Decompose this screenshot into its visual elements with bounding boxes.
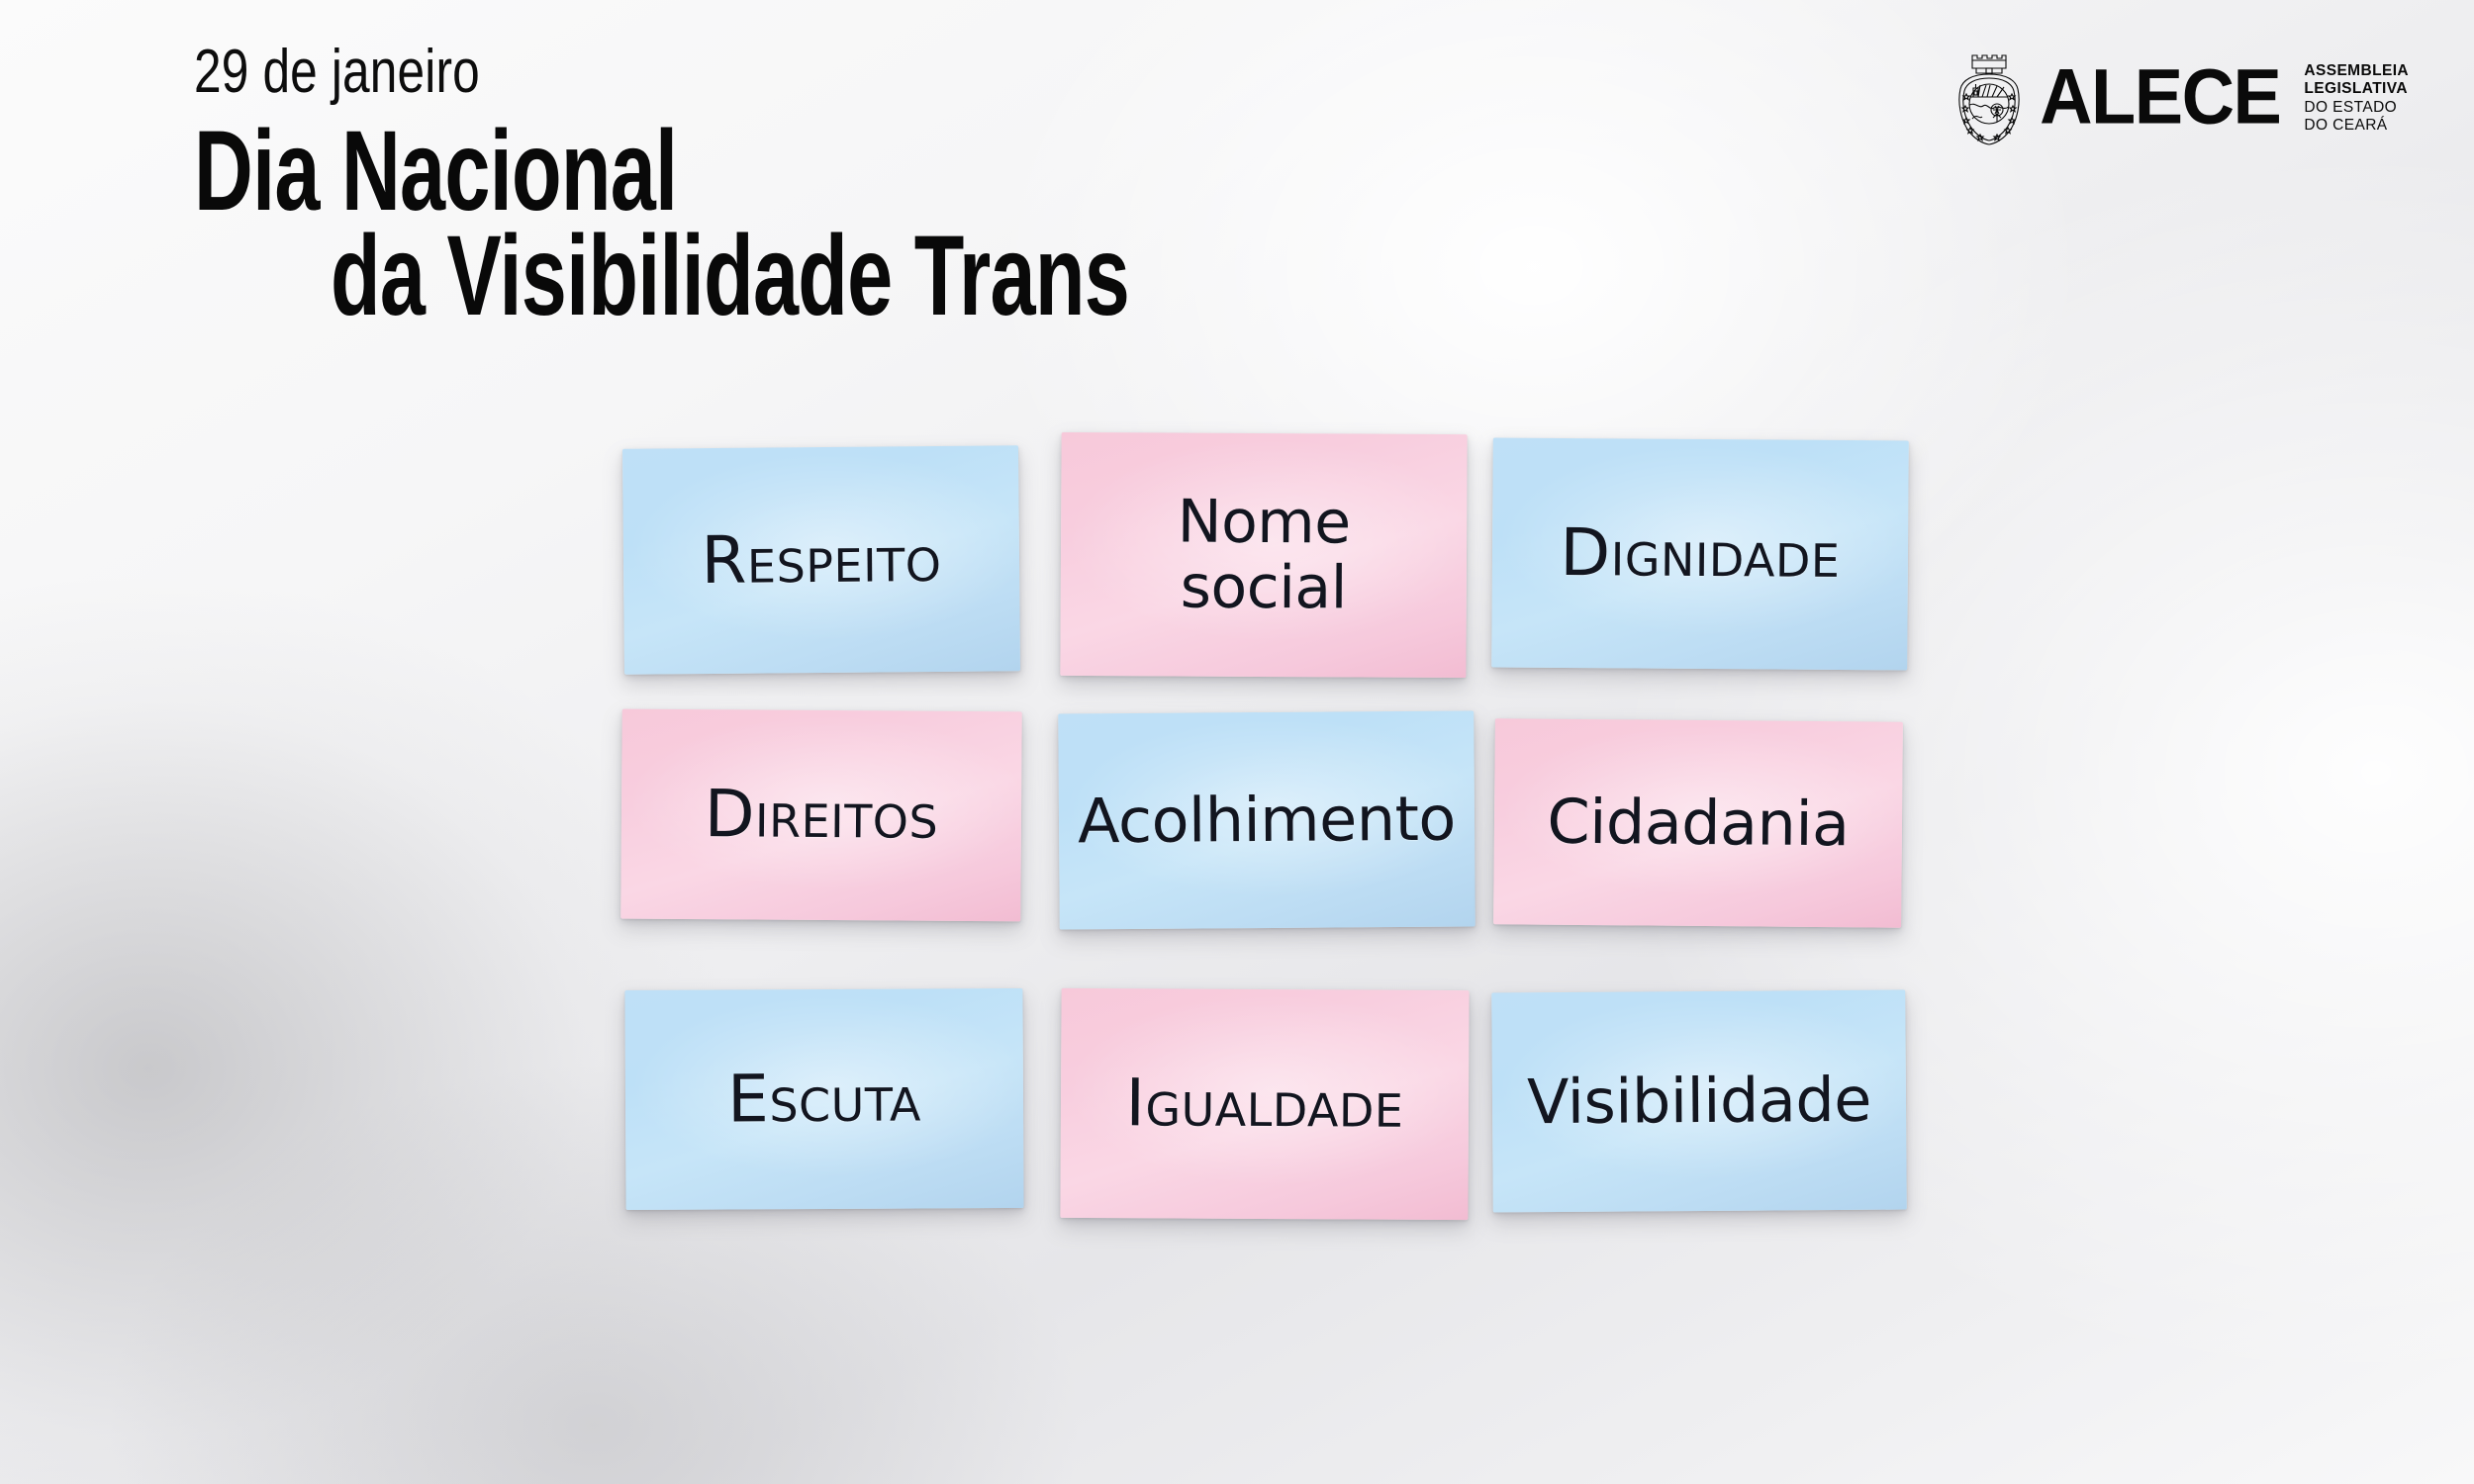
alece-sub-line-4: DO CEARÁ bbox=[2304, 117, 2409, 135]
sticky-note-visibilidade: Visibilidade bbox=[1491, 990, 1907, 1213]
kicker-date: 29 de janeiro bbox=[194, 42, 1190, 103]
note-label: Cidadania bbox=[1547, 790, 1850, 856]
sticky-note-direitos: Direitos bbox=[620, 709, 1021, 922]
alece-sub-line-2: LEGISLATIVA bbox=[2304, 80, 2409, 98]
kicker-day: 29 bbox=[194, 38, 249, 106]
sticky-note-dignidade: Dignidade bbox=[1491, 438, 1909, 671]
sticky-note-grid: Respeito Nome social Dignidade Direitos … bbox=[623, 447, 1930, 1260]
headline-block: 29 de janeiro Dia Nacional da Visibilida… bbox=[194, 42, 1440, 331]
note-label: Acolhimento bbox=[1078, 788, 1456, 853]
sticky-note-igualdade: Igualdade bbox=[1060, 988, 1469, 1220]
note-label: Direitos bbox=[705, 782, 939, 850]
poster-canvas: 29 de janeiro Dia Nacional da Visibilida… bbox=[0, 0, 2474, 1484]
sticky-note-escuta: Escuta bbox=[624, 988, 1023, 1210]
title-line-2: da Visibilidade Trans bbox=[331, 222, 1129, 330]
note-label: Respeito bbox=[701, 525, 941, 594]
alece-logo: ALECE ASSEMBLEIA LEGISLATIVA DO ESTADO D… bbox=[1952, 47, 2409, 146]
alece-wordmark: ALECE bbox=[2040, 63, 2280, 130]
note-label: Dignidade bbox=[1560, 519, 1841, 588]
note-label: Visibilidade bbox=[1527, 1068, 1871, 1134]
title-line-1: Dia Nacional bbox=[194, 117, 1091, 226]
alece-sub-line-3: DO ESTADO bbox=[2304, 99, 2409, 117]
note-label: Nome social bbox=[1177, 490, 1351, 621]
alece-sub-line-1: ASSEMBLEIA bbox=[2304, 62, 2409, 80]
ceara-coat-of-arms-icon bbox=[1952, 47, 2026, 146]
sticky-note-cidadania: Cidadania bbox=[1493, 718, 1903, 928]
alece-subtitle: ASSEMBLEIA LEGISLATIVA DO ESTADO DO CEAR… bbox=[2304, 59, 2409, 135]
note-label: Igualdade bbox=[1125, 1070, 1403, 1139]
sticky-note-nome-social: Nome social bbox=[1060, 432, 1467, 678]
kicker-month: de janeiro bbox=[249, 38, 480, 106]
sticky-note-respeito: Respeito bbox=[622, 445, 1020, 674]
sticky-note-acolhimento: Acolhimento bbox=[1058, 711, 1475, 930]
note-label: Escuta bbox=[727, 1066, 921, 1133]
